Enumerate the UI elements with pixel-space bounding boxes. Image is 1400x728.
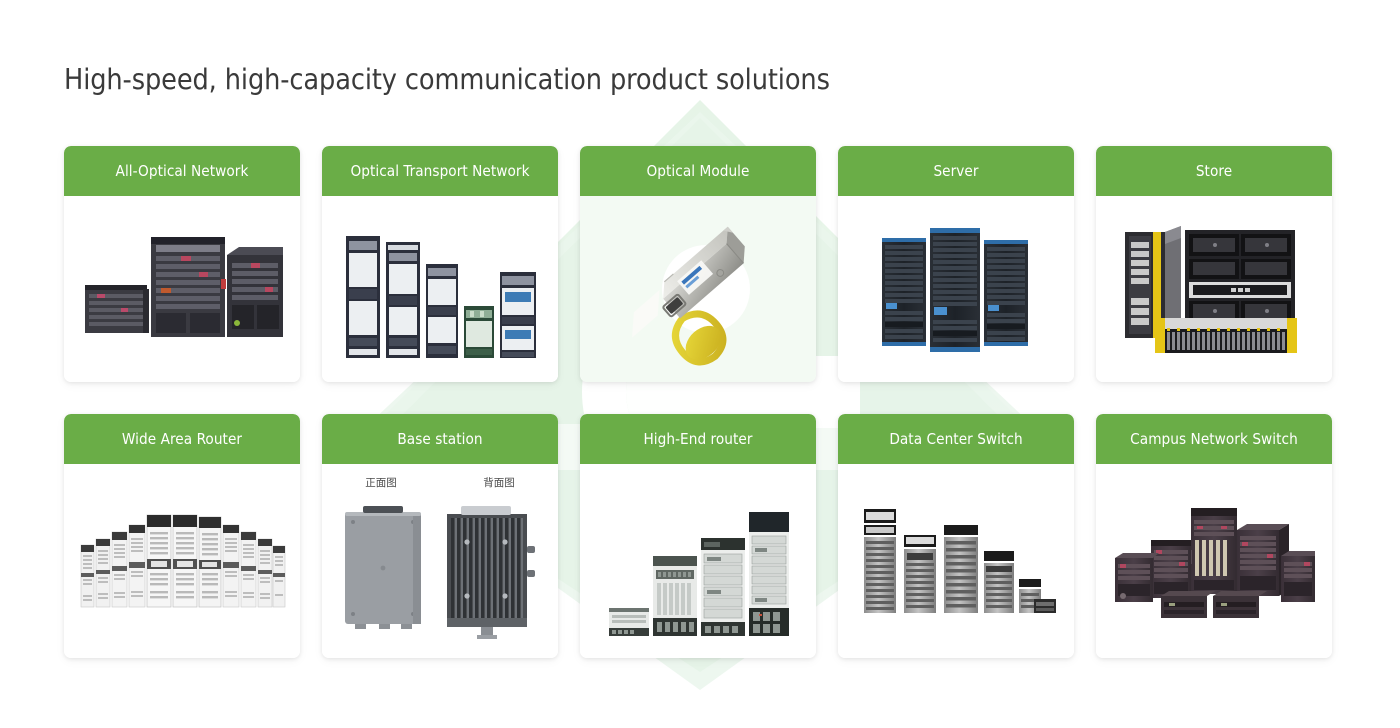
card-title: Campus Network Switch (1130, 430, 1298, 448)
card-title: Base station (397, 430, 482, 448)
card-title: Optical Module (647, 162, 750, 180)
card-title: Optical Transport Network (350, 162, 529, 180)
card-title: Wide Area Router (122, 430, 242, 448)
dc-switch-lineup-art (856, 501, 1056, 621)
product-card-row-1: All-Optical Network (64, 146, 1336, 382)
storage-array-group-art (1119, 214, 1309, 364)
base-station-two-views-art (335, 490, 545, 650)
product-card-optical-module[interactable]: Optical Module (580, 146, 816, 382)
product-card-high-end-router[interactable]: High-End router (580, 414, 816, 658)
product-card-campus-network-switch[interactable]: Campus Network Switch (1096, 414, 1332, 658)
card-title: High-End router (643, 430, 752, 448)
card-header: Optical Transport Network (322, 146, 558, 196)
card-image-area (1096, 464, 1332, 658)
card-header: Campus Network Switch (1096, 414, 1332, 464)
card-image-area (64, 464, 300, 658)
wide-area-router-arc-art (77, 501, 287, 621)
product-card-base-station[interactable]: Base station 正面图 背面图 (322, 414, 558, 658)
card-title: Store (1196, 162, 1232, 180)
card-title: Server (933, 162, 978, 180)
card-header: Base station (322, 414, 558, 464)
card-header: Server (838, 146, 1074, 196)
product-card-grid: All-Optical Network (64, 146, 1336, 658)
otn-rack-row-art (340, 214, 540, 364)
card-header: High-End router (580, 414, 816, 464)
card-image-area (64, 196, 300, 382)
card-image-area (580, 464, 816, 658)
back-view-label: 背面图 (440, 475, 558, 490)
card-image-area (580, 196, 816, 382)
card-header: Optical Module (580, 146, 816, 196)
product-card-all-optical-network[interactable]: All-Optical Network (64, 146, 300, 382)
product-card-store[interactable]: Store (1096, 146, 1332, 382)
server-rack-trio-art (876, 214, 1036, 364)
qsfp-optical-transceiver-art (598, 207, 798, 372)
card-title: Data Center Switch (889, 430, 1022, 448)
product-card-server[interactable]: Server (838, 146, 1074, 382)
card-header: Data Center Switch (838, 414, 1074, 464)
card-image-area (1096, 196, 1332, 382)
card-header: Wide Area Router (64, 414, 300, 464)
card-image-area (838, 196, 1074, 382)
card-image-area (322, 196, 558, 382)
front-view-label: 正面图 (322, 475, 440, 490)
optical-network-chassis-group-art (77, 219, 287, 359)
product-card-wide-area-router[interactable]: Wide Area Router (64, 414, 300, 658)
high-end-router-stack-art (603, 502, 793, 642)
card-title: All-Optical Network (116, 162, 249, 180)
product-card-optical-transport-network[interactable]: Optical Transport Network (322, 146, 558, 382)
card-image-area (838, 464, 1074, 658)
card-image-area: 正面图 背面图 (322, 464, 558, 658)
product-card-data-center-switch[interactable]: Data Center Switch (838, 414, 1074, 658)
page-title: High-speed, high-capacity communication … (64, 63, 830, 96)
base-station-view-labels: 正面图 背面图 (322, 475, 558, 490)
card-header: Store (1096, 146, 1332, 196)
campus-switch-group-art (1109, 496, 1319, 626)
card-header: All-Optical Network (64, 146, 300, 196)
product-card-row-2: Wide Area Router (64, 414, 1336, 658)
